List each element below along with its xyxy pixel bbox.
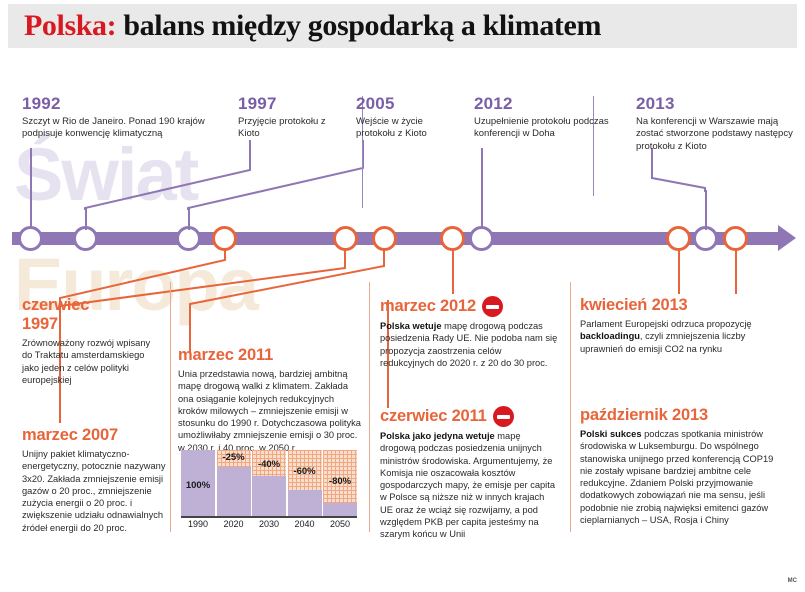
chart-bar-2040: -60% (288, 450, 322, 516)
entry-description: Unijny pakiet klimatyczno-energetyczny, … (22, 448, 174, 534)
entry-world-2012[interactable]: 2012 Uzupełnienie protokołu podczas konf… (474, 94, 624, 141)
entry-year: 2013 (636, 94, 801, 114)
timeline-node-2012[interactable] (469, 226, 494, 251)
chart-tick-2020: 2020 (217, 519, 251, 529)
chart-tick-2030: 2030 (252, 519, 286, 529)
entry-world-1992[interactable]: 1992 Szczyt w Rio de Janeiro. Ponad 190 … (22, 94, 232, 141)
page-title: Polska: balans między gospodarką a klima… (24, 9, 601, 43)
entry-description-bold: Polski sukces (580, 429, 642, 439)
entry-eu-marzec-2007[interactable]: marzec 2007 Unijny pakiet klimatyczno-en… (22, 426, 174, 534)
chart-label-2030: -40% (252, 459, 286, 470)
connector-2012 (481, 148, 483, 228)
entry-description: Przyjęcie protokołu z Kioto (238, 116, 343, 141)
entry-heading-text: marzec 2012 (380, 297, 476, 316)
infographic-page: Polska: balans między gospodarką a klima… (0, 0, 805, 592)
chart-fill-2030 (252, 476, 286, 516)
chart-fill-2020 (217, 467, 251, 517)
chart-tick-1990: 1990 (181, 519, 215, 529)
entry-year: 2005 (356, 94, 461, 114)
entry-pl-czerwiec-2011[interactable]: czerwiec 2011 Polska jako jedyna wetuje … (380, 406, 558, 541)
chart-plot-area: 100% -25% -40% -60% (181, 450, 357, 516)
entry-description: Wejście w życie protokołu z Kioto (356, 116, 461, 141)
entry-world-2013[interactable]: 2013 Na konferencji w Warszawie mają zos… (636, 94, 801, 153)
entry-heading: kwiecień 2013 (580, 296, 770, 315)
entry-description: Zrównoważony rozwój wpisany do Traktatu … (22, 337, 162, 386)
connector-marzec-2011 (180, 248, 395, 353)
title-rest: balans między gospodarką a klimatem (123, 9, 601, 42)
entry-description-bold: Polska wetuje (380, 321, 442, 331)
connector-1992 (30, 148, 32, 228)
entry-eu-kwiecien-2013[interactable]: kwiecień 2013 Parlament Europejski odrzu… (580, 296, 770, 355)
entry-year: 1992 (22, 94, 232, 114)
emissions-reduction-chart: 100% -25% -40% -60% (181, 450, 357, 534)
entry-description-bold: Polska jako jedyna wetuje (380, 431, 495, 441)
entry-description-bold: backloadingu (580, 331, 640, 341)
chart-tick-2040: 2040 (288, 519, 322, 529)
timeline-arrow-icon (778, 225, 796, 251)
credit-label: MC (788, 578, 797, 584)
entry-heading-text: czerwiec 2011 (380, 407, 487, 426)
entry-description: Szczyt w Rio de Janeiro. Ponad 190 krajó… (22, 116, 232, 141)
chart-label-2040: -60% (288, 466, 322, 477)
chart-label-2050: -80% (323, 476, 357, 487)
entry-heading: marzec 2011 (178, 346, 364, 365)
connector-kwiecien-2013 (678, 248, 680, 294)
divider-bottom-2 (369, 282, 370, 532)
entry-description: Unia przedstawia nową, bardziej ambitną … (178, 368, 364, 454)
entry-heading-line1: czerwiec (22, 296, 162, 315)
entry-description: Polska jako jedyna wetuje mapę drogową p… (380, 430, 558, 541)
divider-bottom-3 (570, 282, 571, 532)
title-highlight: Polska: (24, 9, 116, 42)
entry-year: 1997 (238, 94, 343, 114)
entry-description-pre: Parlament Europejski odrzuca propozycję (580, 319, 752, 329)
entry-description: Polska wetuje mapę drogową podczas posie… (380, 320, 558, 369)
entry-description: Polski sukces podczas spotkania ministró… (580, 428, 776, 526)
connector-marzec-2012 (452, 248, 454, 294)
no-entry-icon (493, 406, 514, 427)
entry-description: Parlament Europejski odrzuca propozycję … (580, 318, 770, 355)
entry-pl-marzec-2012[interactable]: marzec 2012 Polska wetuje mapę drogową p… (380, 296, 558, 369)
chart-fill-2040 (288, 490, 322, 516)
entry-heading: marzec 2007 (22, 426, 174, 445)
entry-description-text: mapę drogową podczas posiedzenia unijnyc… (380, 431, 555, 539)
chart-axis-line (181, 516, 357, 518)
entry-description: Uzupełnienie protokołu podczas konferenc… (474, 116, 624, 141)
entry-heading-line2: 1997 (22, 315, 162, 334)
entry-pl-pazdziernik-2013[interactable]: październik 2013 Polski sukces podczas s… (580, 406, 776, 526)
entry-description-text: podczas spotkania ministrów środowiska w… (580, 429, 773, 525)
entry-description: Na konferencji w Warszawie mają zostać s… (636, 116, 801, 153)
connector-pazdziernik-2013 (735, 248, 737, 294)
chart-bar-2020: -25% (217, 450, 251, 516)
connector-2005-diagonal (183, 140, 383, 215)
entry-year: 2012 (474, 94, 624, 114)
connector-2013-diagonal (640, 148, 760, 196)
chart-fill-2050 (323, 503, 357, 516)
chart-bar-1990: 100% (181, 450, 215, 516)
no-entry-icon (482, 296, 503, 317)
chart-label-1990: 100% (181, 480, 215, 491)
connector-2013-stem (705, 190, 707, 230)
chart-bar-2030: -40% (252, 450, 286, 516)
entry-heading: październik 2013 (580, 406, 776, 425)
entry-eu-czerwiec-1997[interactable]: czerwiec 1997 Zrównoważony rozwój wpisan… (22, 296, 162, 386)
entry-eu-marzec-2011[interactable]: marzec 2011 Unia przedstawia nową, bardz… (178, 346, 364, 454)
entry-heading: marzec 2012 (380, 296, 558, 317)
header-banner: Polska: balans między gospodarką a klima… (8, 4, 797, 48)
entry-world-2005[interactable]: 2005 Wejście w życie protokołu z Kioto (356, 94, 461, 141)
chart-bar-2050: -80% (323, 450, 357, 516)
entry-world-1997[interactable]: 1997 Przyjęcie protokołu z Kioto (238, 94, 343, 141)
entry-heading: czerwiec 1997 (22, 296, 162, 334)
entry-heading: czerwiec 2011 (380, 406, 558, 427)
chart-tick-2050: 2050 (323, 519, 357, 529)
chart-label-2020: -25% (217, 452, 251, 463)
